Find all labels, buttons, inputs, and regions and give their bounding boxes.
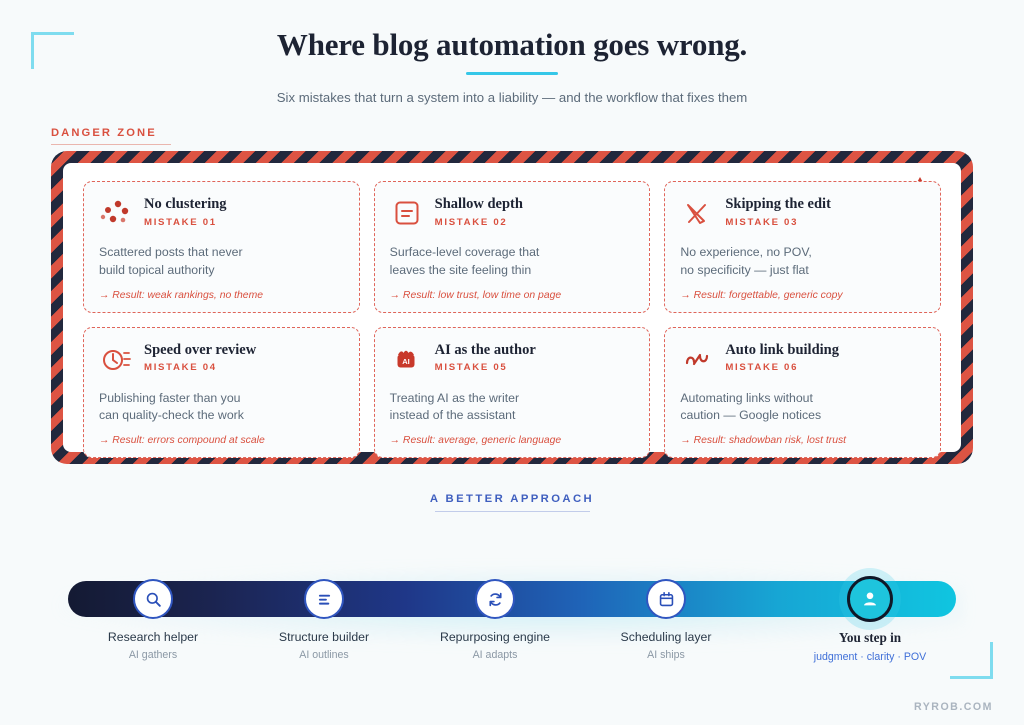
title-underline-accent <box>466 72 558 75</box>
scattered-dots-icon <box>99 196 133 230</box>
node-subtitle: AI outlines <box>229 649 419 661</box>
card-title: No clustering <box>144 196 227 213</box>
card-title: Auto link building <box>725 342 839 359</box>
card-title-group: AI as the author MISTAKE 05 <box>435 341 536 374</box>
card-header: Auto link building MISTAKE 06 <box>680 341 925 376</box>
workflow-node-research-helper[interactable] <box>133 579 173 619</box>
calendar-icon <box>657 590 676 609</box>
crossed-pen-icon <box>680 196 714 230</box>
list-lines-icon <box>315 590 334 609</box>
infographic-canvas: Where blog automation goes wrong. Six mi… <box>0 0 1024 725</box>
workflow-label-repurposing-engine: Repurposing engine AI adapts <box>400 630 590 661</box>
mistake-card-03[interactable]: Skipping the edit MISTAKE 03 No experien… <box>664 181 941 313</box>
card-header: Speed over review MISTAKE 04 <box>99 341 344 376</box>
card-result-text: → Result: low trust, low time on page <box>390 290 635 301</box>
node-subtitle: AI gathers <box>58 649 248 661</box>
svg-text:AI: AI <box>402 357 410 366</box>
card-body-text: Treating AI as the writer instead of the… <box>390 390 635 426</box>
workflow-node-repurposing-engine[interactable] <box>475 579 515 619</box>
better-approach-label: A BETTER APPROACH <box>430 493 594 511</box>
workflow-node-structure-builder[interactable] <box>304 579 344 619</box>
card-body-text: Automating links without caution — Googl… <box>680 390 925 426</box>
card-header: AI AI as the author MISTAKE 05 <box>390 341 635 376</box>
node-subtitle: AI ships <box>571 649 761 661</box>
search-icon <box>144 590 163 609</box>
page-title: Where blog automation goes wrong. <box>0 27 1024 63</box>
card-title-group: No clustering MISTAKE 01 <box>144 195 227 228</box>
person-icon <box>859 588 881 610</box>
mistake-card-02[interactable]: Shallow depth MISTAKE 02 Surface-level c… <box>374 181 651 313</box>
card-title: Shallow depth <box>435 196 523 213</box>
workflow-label-you-step-in: You step in judgment · clarity · POV <box>775 630 965 663</box>
node-title: Repurposing engine <box>400 630 590 644</box>
card-title: Skipping the edit <box>725 196 831 213</box>
footer-brand: RYROB.COM <box>914 701 993 713</box>
node-title: You step in <box>775 630 965 646</box>
ai-robot-icon: AI <box>390 342 424 376</box>
card-result-text: → Result: shadowban risk, lost trust <box>680 435 925 446</box>
card-title: Speed over review <box>144 342 256 359</box>
card-header: Shallow depth MISTAKE 02 <box>390 195 635 230</box>
danger-zone-underline <box>51 144 171 145</box>
danger-zone-label-group: DANGER ZONE <box>51 123 171 145</box>
card-header: No clustering MISTAKE 01 <box>99 195 344 230</box>
mistake-card-06[interactable]: Auto link building MISTAKE 06 Automating… <box>664 327 941 459</box>
workflow-label-scheduling-layer: Scheduling layer AI ships <box>571 630 761 661</box>
card-body-text: Publishing faster than you can quality-c… <box>99 390 344 426</box>
mistakes-grid: No clustering MISTAKE 01 Scattered posts… <box>83 181 941 434</box>
card-result-text: → Result: errors compound at scale <box>99 435 344 446</box>
card-title-group: Auto link building MISTAKE 06 <box>725 341 839 374</box>
card-title-group: Speed over review MISTAKE 04 <box>144 341 256 374</box>
hazard-frame-inner: No clustering MISTAKE 01 Scattered posts… <box>63 163 961 452</box>
broken-link-icon <box>680 342 714 376</box>
card-result-text: → Result: average, generic language <box>390 435 635 446</box>
card-title-group: Shallow depth MISTAKE 02 <box>435 195 523 228</box>
card-mistake-number: MISTAKE 06 <box>725 362 839 373</box>
better-approach-group: A BETTER APPROACH <box>0 489 1024 512</box>
node-title: Research helper <box>58 630 248 644</box>
page-subtitle: Six mistakes that turn a system into a l… <box>0 90 1024 105</box>
node-title: Structure builder <box>229 630 419 644</box>
corner-bracket-top-left <box>31 32 74 69</box>
node-subtitle: AI adapts <box>400 649 590 661</box>
node-title: Scheduling layer <box>571 630 761 644</box>
mistake-card-01[interactable]: No clustering MISTAKE 01 Scattered posts… <box>83 181 360 313</box>
node-subtitle: judgment · clarity · POV <box>775 651 965 663</box>
header: Where blog automation goes wrong. Six mi… <box>0 0 1024 105</box>
clock-speed-icon <box>99 342 133 376</box>
card-body-text: Surface-level coverage that leaves the s… <box>390 244 635 280</box>
mistake-card-04[interactable]: Speed over review MISTAKE 04 Publishing … <box>83 327 360 459</box>
card-result-text: → Result: weak rankings, no theme <box>99 290 344 301</box>
card-title: AI as the author <box>435 342 536 359</box>
workflow-label-structure-builder: Structure builder AI outlines <box>229 630 419 661</box>
card-body-text: Scattered posts that never build topical… <box>99 244 344 280</box>
better-approach-underline <box>435 511 590 512</box>
danger-zone-label: DANGER ZONE <box>51 127 157 144</box>
card-title-group: Skipping the edit MISTAKE 03 <box>725 195 831 228</box>
workflow-node-scheduling-layer[interactable] <box>646 579 686 619</box>
document-lines-icon <box>390 196 424 230</box>
refresh-icon <box>486 590 505 609</box>
workflow-node-you-step-in[interactable] <box>847 576 893 622</box>
hazard-frame: No clustering MISTAKE 01 Scattered posts… <box>51 151 973 464</box>
mistake-card-05[interactable]: AI AI as the author MISTAKE 05 Treating … <box>374 327 651 459</box>
workflow-label-research-helper: Research helper AI gathers <box>58 630 248 661</box>
card-result-text: → Result: forgettable, generic copy <box>680 290 925 301</box>
card-body-text: No experience, no POV, no specificity — … <box>680 244 925 280</box>
card-mistake-number: MISTAKE 02 <box>435 217 523 228</box>
card-mistake-number: MISTAKE 03 <box>725 217 831 228</box>
card-mistake-number: MISTAKE 05 <box>435 362 536 373</box>
card-header: Skipping the edit MISTAKE 03 <box>680 195 925 230</box>
card-mistake-number: MISTAKE 04 <box>144 362 256 373</box>
card-mistake-number: MISTAKE 01 <box>144 217 227 228</box>
